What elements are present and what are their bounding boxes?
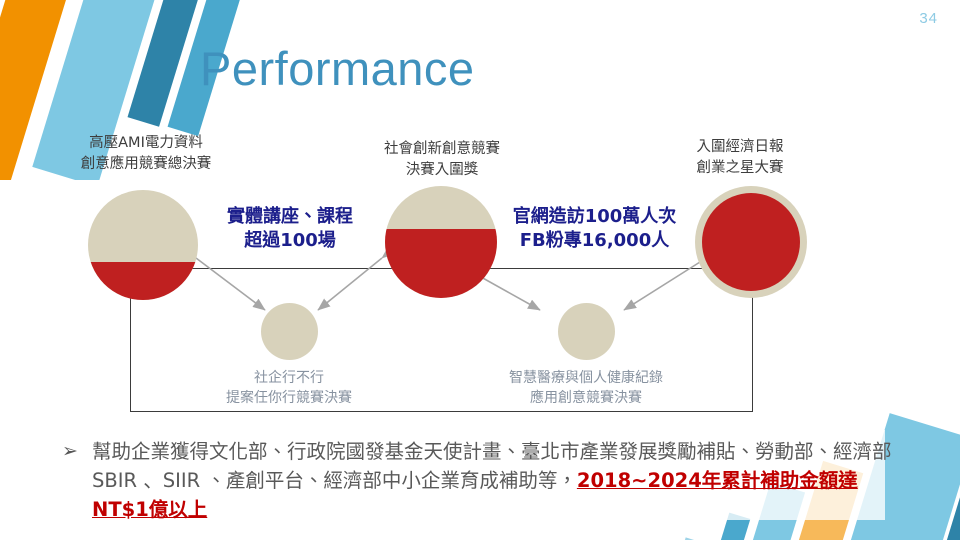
- slide-performance: 34 Performance 高壓AMI電力資料 創意應用競賽總決賽 社會創新創…: [0, 0, 960, 540]
- top-node-circle-1: [88, 190, 198, 300]
- bullet-arrow-icon: ➢: [62, 440, 78, 463]
- circle-fill-1: [88, 262, 198, 301]
- annotation-1: 實體講座、課程 超過100場: [190, 205, 390, 254]
- circle-fill-3: [702, 193, 800, 291]
- bottom-node-label-2: 智慧醫療與個人健康紀錄 應用創意競賽決賽: [486, 368, 686, 409]
- page-number: 34: [919, 10, 938, 27]
- top-node-circle-3: [695, 186, 807, 298]
- top-node-label-1: 高壓AMI電力資料 創意應用競賽總決賽: [46, 133, 246, 174]
- bullet-text: 幫助企業獲得文化部、行政院國發基金天使計畫、臺北市產業發展獎勵補貼、勞動部、經濟…: [92, 438, 892, 525]
- bottom-node-circle-2: [558, 303, 615, 360]
- top-node-label-3: 入圍經濟日報 創業之星大賽: [640, 137, 840, 178]
- top-node-circle-2: [385, 186, 497, 298]
- top-node-label-2: 社會創新創意競賽 決賽入圍獎: [342, 139, 542, 180]
- bottom-node-circle-1: [261, 303, 318, 360]
- annotation-2: 官網造訪100萬人次 FB粉專16,000人: [487, 205, 702, 254]
- circle-fill-2: [385, 229, 497, 298]
- bottom-node-label-1: 社企行不行 提案任你行競賽決賽: [189, 368, 389, 409]
- page-title: Performance: [200, 45, 475, 92]
- bullet-block: ➢ 幫助企業獲得文化部、行政院國發基金天使計畫、臺北市產業發展獎勵補貼、勞動部、…: [62, 438, 892, 525]
